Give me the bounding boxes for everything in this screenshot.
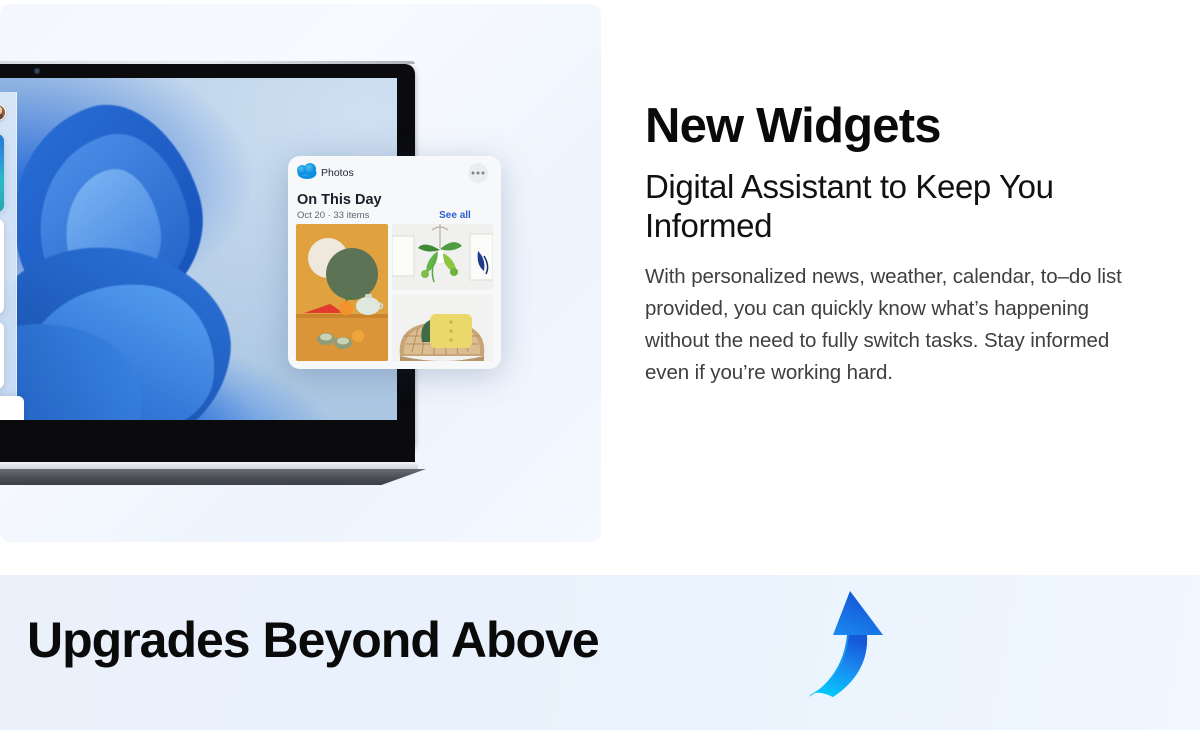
page-body-text: With personalized news, weather, calenda…: [645, 261, 1145, 389]
widget-microsoft-edge[interactable]: Microsoft Edge ••• Search the web: [0, 134, 4, 212]
calendar-month-row: October 20 21 22 23 ▾: [0, 233, 4, 244]
avatar[interactable]: [0, 104, 6, 121]
photo-thumbnail: [392, 294, 493, 361]
photos-subtitle: Oct 20 · 33 items: [297, 210, 370, 221]
laptop-base: [0, 469, 426, 485]
page-subtitle: Digital Assistant to Keep You Informed: [645, 167, 1145, 246]
calendar-widget-header: Calendar •••: [0, 219, 4, 233]
widget-news[interactable]: NBC News · 5 mins Are coffee naps the an…: [0, 396, 24, 420]
news-headline: Are coffee naps the answer to your: [0, 412, 16, 418]
product-visual-panel: 1 AM Microsoft Edge ••• Search the: [0, 4, 601, 542]
laptop-hinge: [0, 462, 418, 469]
photo-thumbnail: [296, 224, 388, 361]
laptop-chin: [0, 436, 415, 462]
widget-photos[interactable]: Photos On This Day Oct 20 · 33 items See…: [288, 156, 501, 369]
curved-up-arrow-icon: [795, 583, 895, 703]
webcam-icon: [35, 69, 39, 73]
calendar-event-row[interactable]: 12 PM 1h Lunch Alex Johnson ⋮: [0, 258, 4, 272]
todo-list-selector[interactable]: My Day ▾: [0, 336, 4, 346]
calendar-event-row[interactable]: All day Angela's Birthday 🎁: [0, 244, 4, 258]
photos-see-all-link: See all: [439, 210, 471, 221]
news-source-row: NBC News · 5 mins: [0, 403, 16, 409]
calendar-event-row[interactable]: 6:00 PM 1h Studio Time Conf Rm 32/35: [0, 286, 4, 300]
photo-thumbnail: [392, 224, 493, 290]
bottom-banner: Upgrades Beyond Above: [0, 575, 1200, 730]
photos-app-name: Photos: [321, 167, 354, 179]
calendar-event-row[interactable]: 1:30 PM 1h Presentation Skype Meeting: [0, 272, 4, 286]
todo-widget-header: ✓ To Do •••: [0, 322, 4, 336]
banner-bottom-strip: [0, 730, 1200, 742]
widgets-board-header: 1 AM: [0, 104, 8, 128]
banner-title: Upgrades Beyond Above: [27, 611, 599, 669]
page-title: New Widgets: [645, 100, 1145, 153]
marketing-copy: New Widgets Digital Assistant to Keep Yo…: [645, 100, 1145, 389]
photos-title: On This Day: [297, 192, 382, 208]
edge-widget-photo: [0, 178, 4, 212]
page-root: 1 AM Microsoft Edge ••• Search the: [0, 0, 1200, 742]
widget-to-do[interactable]: ✓ To Do ••• My Day ▾: [0, 322, 4, 389]
edge-widget-header: Microsoft Edge •••: [0, 134, 4, 146]
widget-calendar[interactable]: Calendar ••• October 20 21 22 23: [0, 219, 4, 314]
widgets-board[interactable]: 1 AM Microsoft Edge ••• Search the: [0, 92, 17, 420]
